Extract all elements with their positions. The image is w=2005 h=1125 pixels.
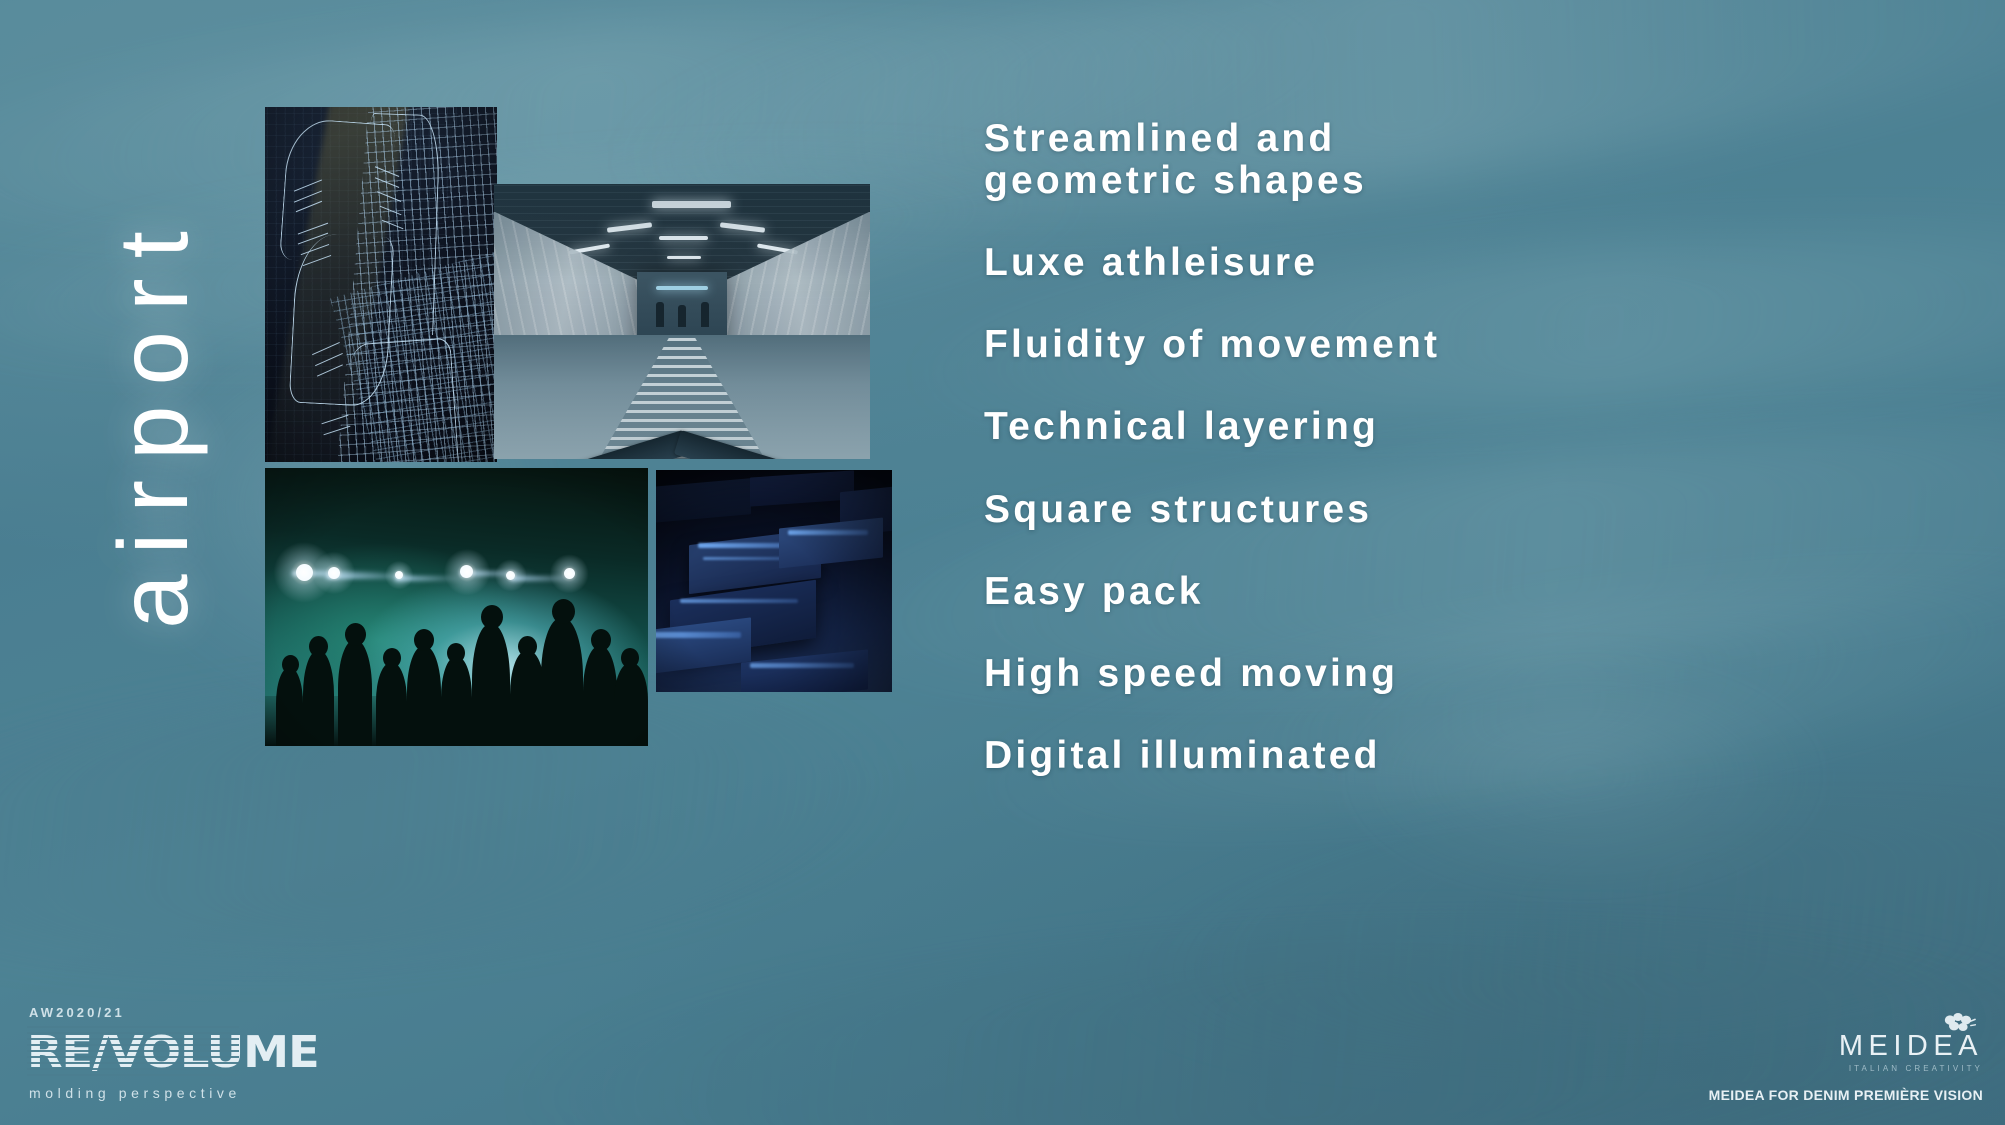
keyword-item: Fluidity of movement [984, 324, 1844, 366]
keyword-item: Streamlined and geometric shapes [984, 118, 1844, 202]
meidea-subtitle: ITALIAN CREATIVITY [1839, 1064, 1983, 1073]
airport-escalator-hall-image [494, 184, 870, 459]
keyword-item: Easy pack [984, 571, 1844, 613]
keyword-item: Square structures [984, 489, 1844, 531]
flower-icon [1939, 1012, 1979, 1036]
aerial-city-map-image [265, 107, 497, 462]
keyword-item: Technical layering [984, 406, 1844, 448]
blue-illuminated-blocks-image [656, 470, 892, 692]
keyword-item: High speed moving [984, 653, 1844, 695]
season-label: AW2020/21 [29, 1005, 287, 1020]
meidea-branding: MEIDEA ITALIAN CREATIVITY MEIDEA FOR DEN… [1709, 1032, 1983, 1103]
slide-canvas: airport [0, 0, 2005, 1125]
meidea-name: MEIDEA [1839, 1032, 1983, 1061]
keyword-item: Digital illuminated [984, 735, 1844, 777]
revolume-logo: RE/VOLUME [27, 1026, 239, 1080]
keyword-list: Streamlined and geometric shapes Luxe at… [984, 118, 1844, 817]
revolume-tagline: molding perspective [29, 1085, 287, 1101]
concert-crowd-lights-image [265, 468, 648, 746]
meidea-caption: MEIDEA FOR DENIM PREMIÈRE VISION [1709, 1087, 1983, 1103]
keyword-item: Luxe athleisure [984, 242, 1844, 284]
revolume-branding: AW2020/21 RE/VOLUME molding perspective [27, 1005, 287, 1101]
meidea-logo: MEIDEA ITALIAN CREATIVITY [1839, 1032, 1983, 1073]
revolume-logo-text: RE/VOLUME [27, 1026, 250, 1080]
